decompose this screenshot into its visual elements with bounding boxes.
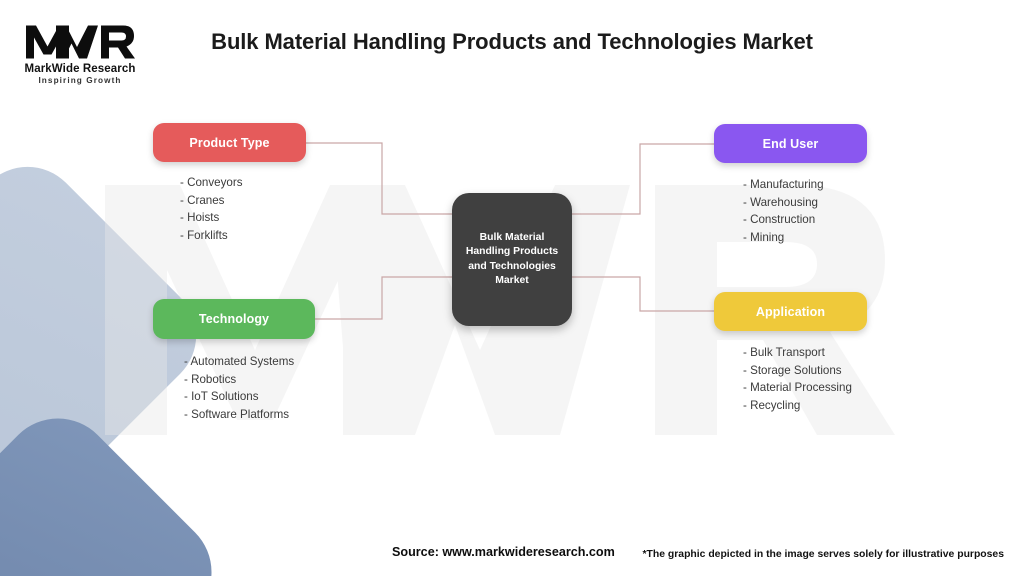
branch-application[interactable]: Application - Bulk Transport - Storage S… (714, 292, 914, 414)
disclaimer-note: *The graphic depicted in the image serve… (643, 549, 1004, 560)
branch-items-product-type: - Conveyors - Cranes - Hoists - Forklift… (153, 174, 323, 244)
connector-application (572, 277, 714, 311)
list-item: - Bulk Transport (743, 344, 914, 362)
list-item: - Recycling (743, 397, 914, 415)
brand-name: MarkWide Research (16, 63, 144, 75)
list-item: - Warehousing (743, 194, 894, 212)
branch-label-end-user[interactable]: End User (714, 124, 867, 163)
list-item: - Robotics (184, 371, 343, 389)
list-item: - Manufacturing (743, 176, 894, 194)
branch-items-technology: - Automated Systems - Robotics - IoT Sol… (153, 353, 343, 423)
branch-technology[interactable]: Technology - Automated Systems - Robotic… (153, 299, 343, 423)
list-item: - Software Platforms (184, 406, 343, 424)
page-title: Bulk Material Handling Products and Tech… (0, 29, 1024, 55)
center-node[interactable]: Bulk Material Handling Products and Tech… (452, 193, 572, 326)
connector-product-type (306, 143, 452, 214)
branch-end-user[interactable]: End User - Manufacturing - Warehousing -… (714, 124, 894, 246)
branch-items-end-user: - Manufacturing - Warehousing - Construc… (714, 176, 894, 246)
branch-label-application[interactable]: Application (714, 292, 867, 331)
branch-items-application: - Bulk Transport - Storage Solutions - M… (714, 344, 914, 414)
infographic-canvas: MarkWide Research Inspiring Growth Bulk … (0, 0, 1024, 576)
list-item: - Hoists (180, 209, 323, 227)
list-item: - Forklifts (180, 227, 323, 245)
list-item: - Material Processing (743, 379, 914, 397)
branch-product-type[interactable]: Product Type - Conveyors - Cranes - Hois… (153, 123, 323, 244)
list-item: - Mining (743, 229, 894, 247)
branch-label-technology[interactable]: Technology (153, 299, 315, 339)
list-item: - Storage Solutions (743, 362, 914, 380)
brand-tagline: Inspiring Growth (16, 76, 144, 85)
center-node-label: Bulk Material Handling Products and Tech… (452, 231, 572, 289)
branch-label-product-type[interactable]: Product Type (153, 123, 306, 162)
list-item: - Conveyors (180, 174, 323, 192)
list-item: - Cranes (180, 192, 323, 210)
list-item: - Construction (743, 211, 894, 229)
list-item: - IoT Solutions (184, 388, 343, 406)
list-item: - Automated Systems (184, 353, 343, 371)
source-note: Source: www.markwideresearch.com (392, 545, 615, 559)
connector-end-user (572, 144, 714, 214)
